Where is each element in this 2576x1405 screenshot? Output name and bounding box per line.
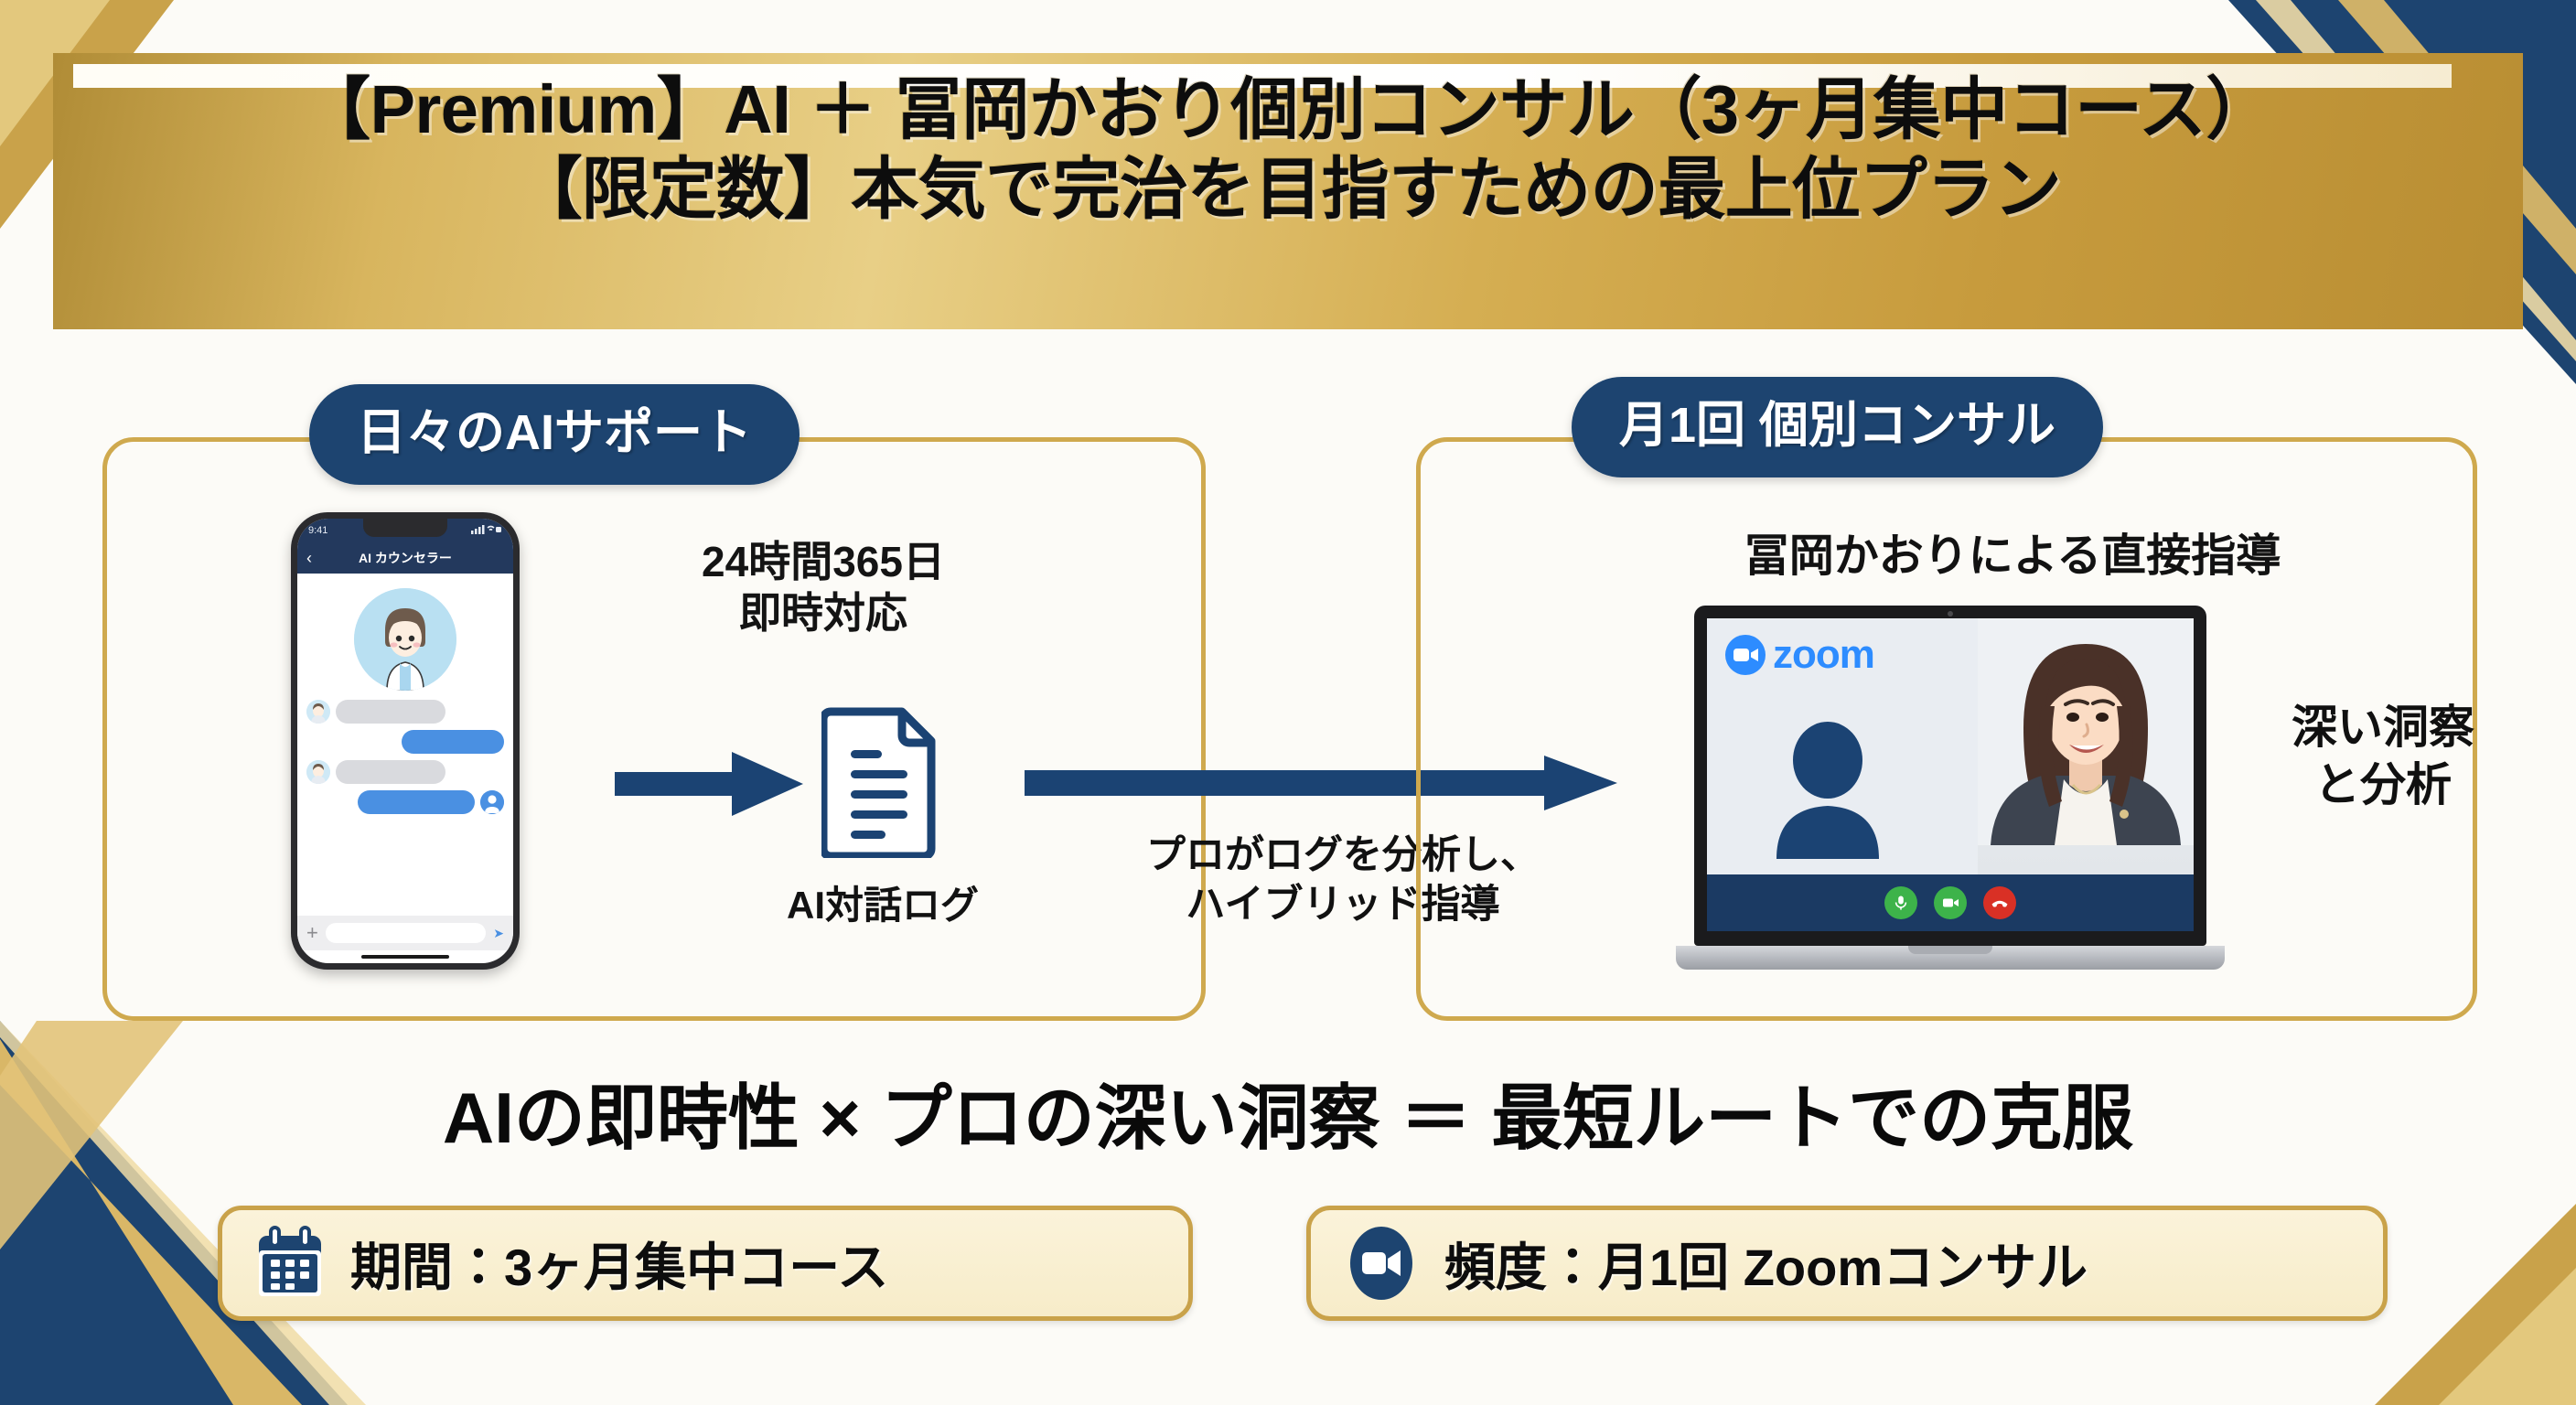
page-title-line1: 【Premium】AI ＋ 冨岡かおり個別コンサル（3ヶ月集中コース） [303,71,2273,147]
left-feature-panel [102,437,1206,1021]
microphone-icon [1892,894,1910,912]
zoom-control-bar[interactable] [1707,874,2194,931]
note-line1: 深い洞察 [2232,699,2534,756]
phone-nav-bar: ‹ AI カウンセラー [297,542,513,574]
status-indicators [471,524,502,537]
message-input[interactable] [326,923,486,943]
plus-icon[interactable]: + [306,923,318,943]
end-call-button[interactable] [1983,886,2016,919]
document-lines-icon [821,702,940,858]
phone-app-title: AI カウンセラー [359,549,452,567]
chat-bubble-ai [336,760,445,784]
ai-availability-text: 24時間365日 即時対応 [604,536,1043,638]
calendar-icon [253,1225,327,1302]
chat-message-row [306,790,504,814]
page-title-line2: 【限定数】本気で完治を目指すための最上位プラン [0,149,2576,229]
chevron-left-icon[interactable]: ‹ [306,549,312,568]
right-panel-note: 深い洞察 と分析 [2232,699,2534,814]
send-icon[interactable]: ➤ [493,926,504,941]
avatar [306,700,330,724]
infographic-page: 【Premium】AI ＋ 冨岡かおり個別コンサル（3ヶ月集中コース） 【限定数… [0,0,2576,1405]
laptop-trackpad-notch [1908,946,1992,954]
chat-message-row [306,730,504,754]
avatar [480,790,504,814]
laptop-base [1676,946,2225,970]
laptop-mockup: zoom [1676,606,2225,999]
laptop-lid: zoom [1694,606,2206,946]
phone-hangup-icon [1990,893,2010,913]
right-panel-subtitle: 冨岡かおりによる直接指導 [1592,520,2433,585]
availability-line2: 即時対応 [604,587,1043,638]
ai-counselor-avatar [354,588,456,691]
doc-label: AI対話ログ [723,874,1043,930]
badge-monthly-consult: 月1回 個別コンサル [1572,377,2103,477]
phone-notch [363,519,447,537]
smartphone-mockup: 9:41 ‹ AI カウンセラー [291,512,520,970]
availability-line1: 24時間365日 [604,536,1043,587]
video-camera-icon [1940,893,1960,913]
chat-message-row [306,760,504,784]
phone-composer[interactable]: + ➤ [297,916,513,950]
tagline: AIの即時性 × プロの深い洞察 ＝ 最短ルートでの克服 [0,1061,2576,1164]
zoom-logo: zoom [1725,635,1874,675]
mic-button[interactable] [1884,886,1917,919]
laptop-screen: zoom [1707,618,2194,931]
video-button[interactable] [1934,886,1967,919]
person-silhouette-icon [1773,722,1883,863]
phone-status-bar: 9:41 [297,519,513,542]
phone-screen: 9:41 ‹ AI カウンセラー [297,519,513,963]
chat-bubble-user [402,730,504,754]
footer-pill-duration: 期間：3ヶ月集中コース [218,1206,1193,1321]
zoom-camera-icon [1725,635,1766,675]
zoom-wordmark: zoom [1773,635,1874,675]
phone-home-indicator [361,955,449,959]
footer-pill-duration-label: 期間：3ヶ月集中コース [350,1227,888,1301]
arrow-right-icon [615,748,803,820]
chat-bubble-user [358,790,475,814]
presenter-video-tile [1978,618,2194,874]
header-banner: 【Premium】AI ＋ 冨岡かおり個別コンサル（3ヶ月集中コース） 【限定数… [0,0,2576,329]
page-title: 【Premium】AI ＋ 冨岡かおり個別コンサル（3ヶ月集中コース） 【限定数… [0,70,2576,230]
chat-message-row [306,700,504,724]
badge-daily-ai-support: 日々のAIサポート [309,384,800,485]
chat-bubble-ai [336,700,445,724]
video-camera-icon [1342,1224,1421,1303]
note-line2: と分析 [2232,756,2534,814]
status-time: 9:41 [308,525,327,536]
footer-pill-frequency: 頻度：月1回 Zoomコンサル [1306,1206,2388,1321]
signal-wifi-battery-icons [471,524,502,534]
phone-chat-body [297,574,513,828]
webcam-icon [1948,611,1953,617]
kaori-tomioka-photo [1978,618,2194,845]
footer-pill-frequency-label: 頻度：月1回 Zoomコンサル [1444,1227,2088,1301]
avatar [306,760,330,784]
